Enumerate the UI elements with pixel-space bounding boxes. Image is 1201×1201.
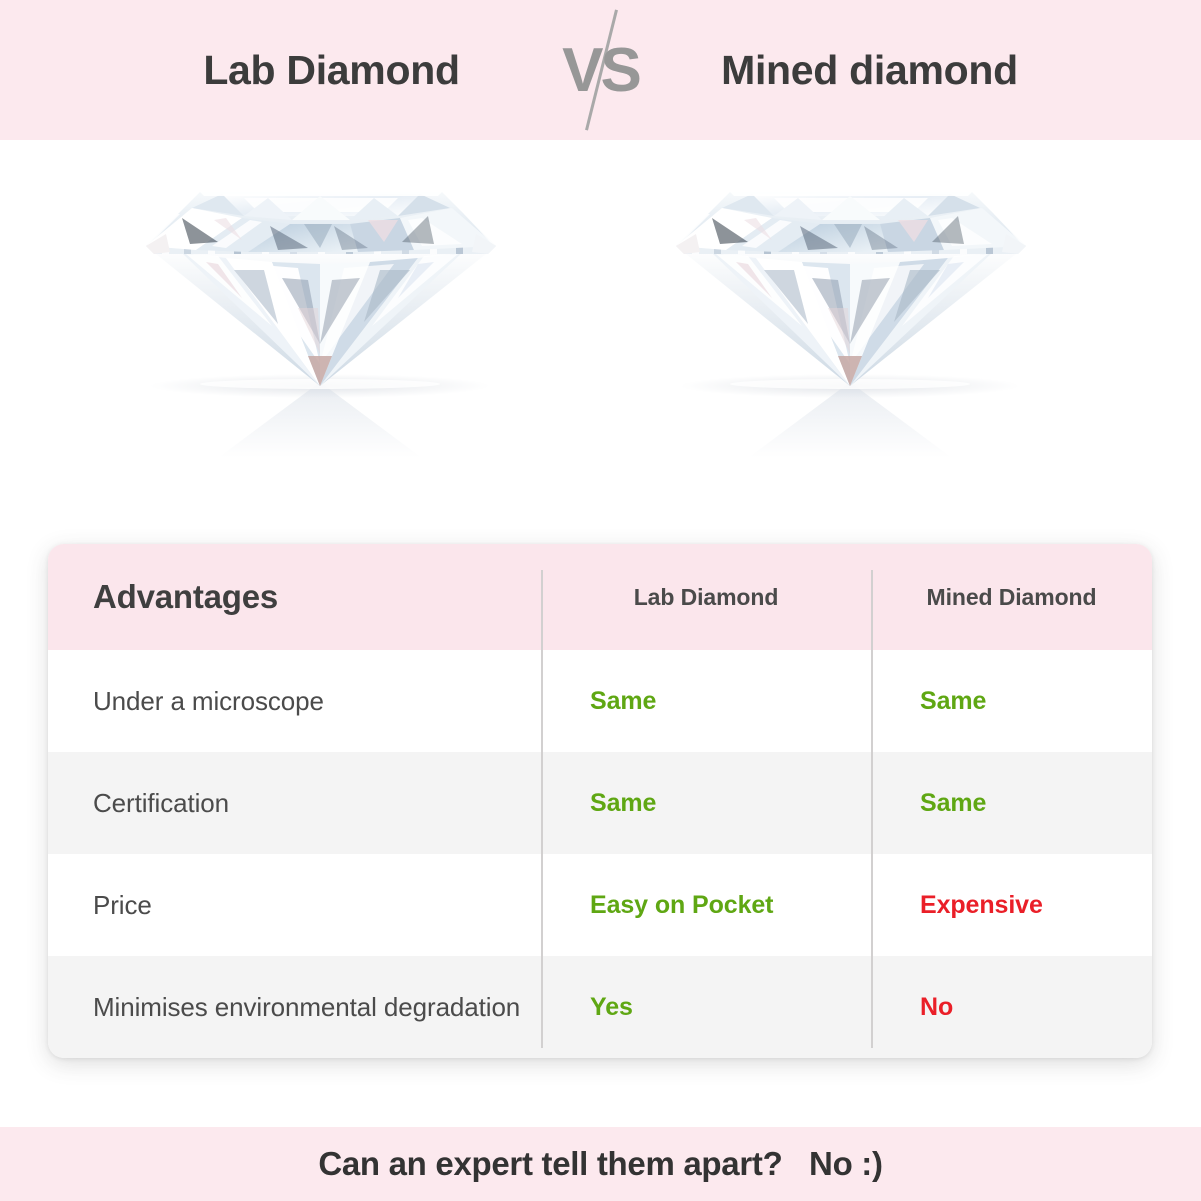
mined-diamond-photo bbox=[652, 158, 1052, 458]
row-value-mined: Expensive bbox=[871, 891, 1152, 920]
column-divider-second bbox=[871, 570, 873, 1048]
table-header-row: Advantages Lab Diamond Mined Diamond bbox=[48, 544, 1152, 650]
row-value-mined: No bbox=[871, 993, 1152, 1022]
row-value-mined: Same bbox=[871, 687, 1152, 716]
row-value-lab: Yes bbox=[541, 993, 871, 1022]
row-feature-label: Under a microscope bbox=[48, 683, 541, 720]
table-row: Price Easy on Pocket Expensive bbox=[48, 854, 1152, 956]
header-title-lab-diamond: Lab Diamond bbox=[122, 47, 542, 94]
lab-diamond-photo bbox=[122, 158, 522, 458]
table-row: Certification Same Same bbox=[48, 752, 1152, 854]
column-header-lab-diamond: Lab Diamond bbox=[541, 584, 871, 611]
row-value-lab: Same bbox=[541, 687, 871, 716]
footer-band: Can an expert tell them apart? No :) bbox=[0, 1127, 1201, 1201]
column-header-advantages: Advantages bbox=[48, 578, 541, 616]
comparison-header-band: Lab Diamond VS Mined diamond bbox=[0, 0, 1201, 140]
versus-badge: VS bbox=[542, 0, 660, 140]
column-header-mined-diamond: Mined Diamond bbox=[871, 584, 1152, 611]
versus-label: VS bbox=[542, 0, 660, 140]
header-title-mined-diamond: Mined diamond bbox=[660, 47, 1080, 94]
table-row: Minimises environmental degradation Yes … bbox=[48, 956, 1152, 1058]
row-value-lab: Same bbox=[541, 789, 871, 818]
comparison-table: Advantages Lab Diamond Mined Diamond Und… bbox=[48, 544, 1152, 1058]
diamond-image-stage bbox=[0, 140, 1201, 540]
comparison-table-card: Advantages Lab Diamond Mined Diamond Und… bbox=[48, 544, 1152, 1058]
column-divider-first bbox=[541, 570, 543, 1048]
row-value-mined: Same bbox=[871, 789, 1152, 818]
table-row: Under a microscope Same Same bbox=[48, 650, 1152, 752]
row-value-lab: Easy on Pocket bbox=[541, 891, 871, 920]
row-feature-label: Certification bbox=[48, 785, 541, 822]
row-feature-label: Minimises environmental degradation bbox=[48, 989, 541, 1026]
footer-question: Can an expert tell them apart? No :) bbox=[318, 1145, 882, 1183]
row-feature-label: Price bbox=[48, 887, 541, 924]
